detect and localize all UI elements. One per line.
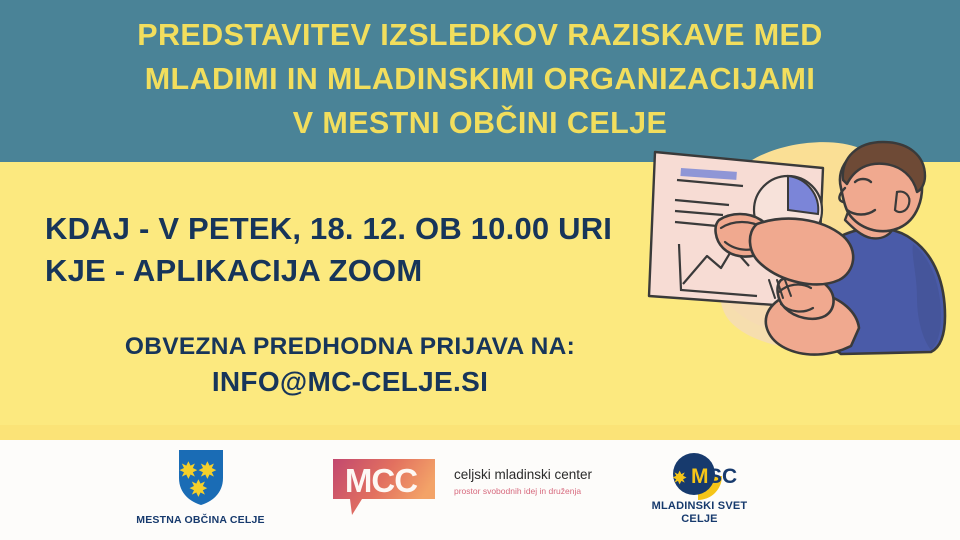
logo-mestna-obcina-celje-caption: MESTNA OBČINA CELJE: [118, 514, 283, 526]
msc-caption-line-2: CELJE: [637, 513, 762, 526]
mcc-tagline-text: prostor svobodnih idej in druženja: [454, 485, 592, 497]
title-line-2: MLADIMI IN MLADINSKIMI ORGANIZACIJAMI: [0, 57, 960, 101]
msc-caption-line-1: MLADINSKI SVET: [637, 500, 762, 513]
registration-label: OBVEZNA PREDHODNA PRIJAVA NA:: [0, 330, 700, 363]
registration-block: OBVEZNA PREDHODNA PRIJAVA NA: INFO@MC-CE…: [0, 330, 700, 401]
svg-text:MCC: MCC: [345, 462, 417, 499]
title-line-3: V MESTNI OBČINI CELJE: [0, 101, 960, 145]
mcc-speech-bubble-icon: MCC: [328, 455, 440, 517]
event-where-line: KJE - APLIKACIJA ZOOM: [45, 250, 612, 292]
logo-celjski-mladinski-center: MCC celjski mladinski center prostor svo…: [328, 455, 613, 517]
mcc-name-text: celjski mladinski center: [454, 467, 592, 483]
event-when-line: KDAJ - V PETEK, 18. 12. OB 10.00 URI: [45, 208, 612, 250]
logo-mestna-obcina-celje: MESTNA OBČINA CELJE: [118, 446, 283, 526]
event-details: KDAJ - V PETEK, 18. 12. OB 10.00 URI KJE…: [45, 208, 612, 292]
msc-circle-star-icon: M SC: [650, 452, 750, 500]
svg-text:SC: SC: [708, 465, 737, 488]
logo-mladinski-svet-celje: M SC MLADINSKI SVET CELJE: [637, 452, 762, 526]
shield-with-three-stars-icon: [173, 446, 229, 508]
registration-email[interactable]: INFO@MC-CELJE.SI: [0, 363, 700, 401]
page-title: PREDSTAVITEV IZSLEDKOV RAZISKAVE MED MLA…: [0, 13, 960, 145]
title-line-1: PREDSTAVITEV IZSLEDKOV RAZISKAVE MED: [0, 13, 960, 57]
svg-text:M: M: [691, 465, 709, 488]
event-poster: PREDSTAVITEV IZSLEDKOV RAZISKAVE MED MLA…: [0, 0, 960, 540]
